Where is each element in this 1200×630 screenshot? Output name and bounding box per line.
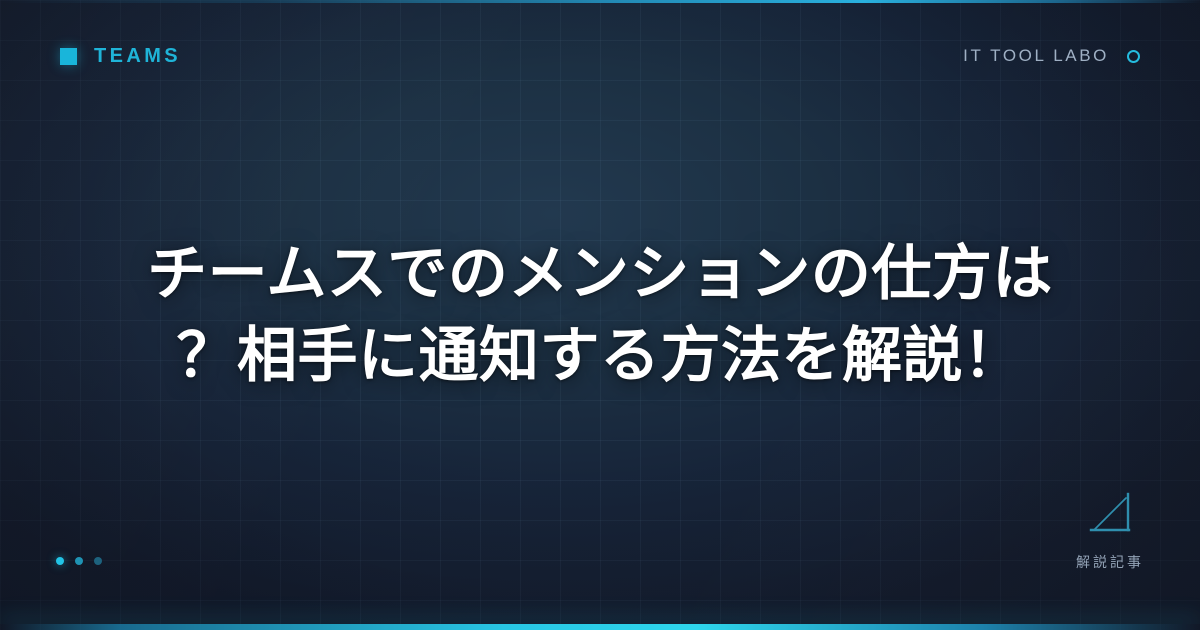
dot-mid [75, 557, 83, 565]
dot-dim [94, 557, 102, 565]
page-title: チームスでのメンションの仕方は ？相手に通知する方法を解説！ [147, 233, 1053, 396]
page-indicator-dots [56, 557, 102, 565]
title-line-2: ？相手に通知する方法を解説！ [147, 315, 1053, 397]
dot-active [56, 557, 64, 565]
title-line-1: チームスでのメンションの仕方は [147, 233, 1053, 315]
article-type-badge: 解説記事 [1076, 490, 1144, 572]
hero-title-area: チームスでのメンションの仕方は ？相手に通知する方法を解説！ [0, 0, 1200, 630]
og-card-canvas: TEAMS IT TOOL LABO チームスでのメンションの仕方は ？相手に通… [0, 0, 1200, 630]
badge-label: 解説記事 [1076, 552, 1144, 572]
growth-chart-icon [1085, 490, 1135, 536]
